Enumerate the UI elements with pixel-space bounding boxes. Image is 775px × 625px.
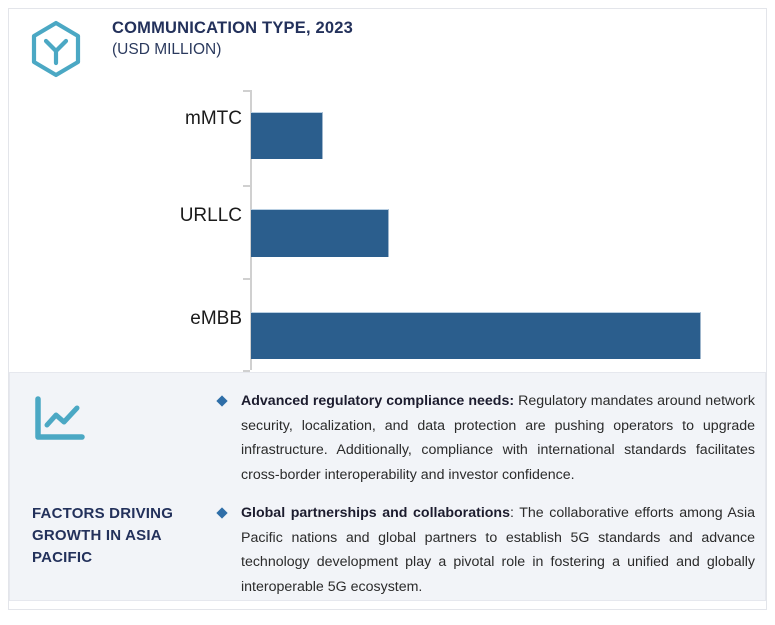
bar-mmtc — [251, 112, 323, 159]
diamond-bullet-icon — [216, 507, 227, 518]
diamond-bullet-icon — [216, 395, 227, 406]
panel-left-column: FACTORS DRIVING GROWTH IN ASIA PACIFIC — [32, 395, 192, 569]
page-subtitle: (USD MILLION) — [112, 39, 353, 60]
bar-category-label: URLLC — [180, 205, 242, 227]
title-block: COMMUNICATION TYPE, 2023 (USD MILLION) — [112, 18, 353, 60]
bullet-lead: Advanced regulatory compliance needs: — [241, 393, 514, 409]
bar-urllc — [251, 209, 389, 257]
bar-embb — [251, 312, 701, 359]
axis-tick — [243, 278, 250, 280]
axis-tick — [243, 185, 250, 187]
bar-category-label: eMBB — [190, 308, 242, 330]
list-item: Global partnerships and collaborations: … — [215, 501, 755, 599]
panel-heading: FACTORS DRIVING GROWTH IN ASIA PACIFIC — [32, 503, 192, 569]
panel-bullet-list: Advanced regulatory compliance needs: Re… — [215, 389, 755, 599]
infographic-page: COMMUNICATION TYPE, 2023 (USD MILLION) m… — [0, 0, 775, 625]
bar-category-label: mMTC — [185, 108, 242, 130]
hexagon-y-icon — [28, 20, 84, 78]
list-item: Advanced regulatory compliance needs: Re… — [215, 389, 755, 487]
axis-tick — [243, 90, 250, 92]
chart-header: COMMUNICATION TYPE, 2023 (USD MILLION) — [20, 14, 720, 84]
trend-chart-icon — [32, 395, 88, 445]
page-title: COMMUNICATION TYPE, 2023 — [112, 18, 353, 39]
bar-chart: mMTC URLLC eMBB — [0, 82, 759, 374]
bullet-lead: Global partnerships and collaborations — [241, 505, 510, 521]
factors-panel: FACTORS DRIVING GROWTH IN ASIA PACIFIC A… — [9, 372, 766, 601]
